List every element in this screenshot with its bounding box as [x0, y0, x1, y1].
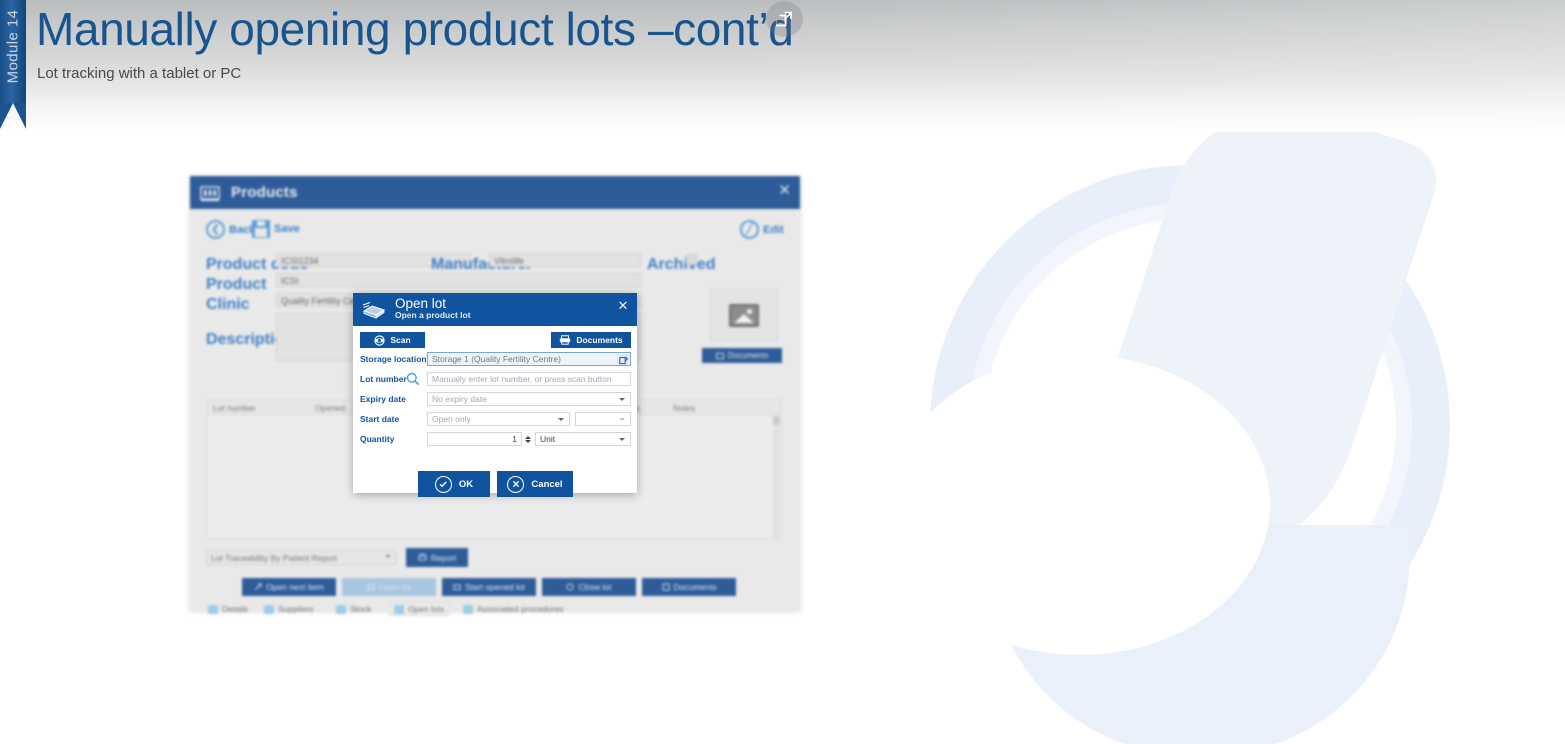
cancel-button[interactable]: Cancel [497, 471, 573, 497]
quantity-label: Quantity [360, 432, 394, 446]
edit-button[interactable]: ╱ Edit [740, 220, 784, 239]
dialog-documents-button-label: Documents [576, 335, 622, 345]
associated-procedures-icon [463, 605, 473, 614]
quantity-stepper[interactable] [523, 432, 532, 446]
th-lot-number[interactable]: Lot number [213, 403, 256, 413]
open-next-item-button[interactable]: Open next item [242, 578, 336, 596]
ok-button-label: OK [459, 479, 473, 490]
open-lots-icon [394, 605, 404, 614]
tab-stock-label: Stock [350, 604, 371, 614]
product-field[interactable]: ICSI [276, 273, 641, 287]
tab-details[interactable]: Details [208, 604, 248, 614]
unit-field[interactable]: Unit [535, 432, 631, 446]
documents-side-button-label: Documents [728, 351, 768, 360]
save-icon [252, 220, 270, 238]
edit-button-label: Edit [763, 224, 784, 236]
report-select-value: Lot Traceability By Patient Report [211, 553, 337, 563]
archived-label: Archived [647, 256, 715, 274]
manufacturer-field[interactable]: Vitrolife [489, 253, 641, 267]
tab-associated-procedures-label: Associated procedures [477, 604, 563, 614]
report-select[interactable]: Lot Traceability By Patient Report [206, 550, 396, 565]
products-titlebar: Products ✕ [190, 176, 800, 209]
chevron-down-icon [385, 555, 391, 558]
tab-suppliers[interactable]: Suppliers [264, 604, 313, 614]
cancel-button-label: Cancel [531, 479, 562, 490]
product-label: Product [206, 276, 266, 294]
open-lot-dialog-title: Open lot [395, 297, 471, 310]
start-opened-lot-label: Start opened lot [465, 582, 525, 592]
chevron-left-icon: ❮ [206, 220, 225, 239]
image-placeholder-icon[interactable] [710, 289, 778, 341]
expiry-date-value: No expiry date [432, 394, 487, 404]
products-icon [199, 183, 221, 203]
open-in-new-icon[interactable] [766, 1, 803, 37]
start-date-value: Open only [432, 414, 471, 424]
chevron-down-icon[interactable] [619, 438, 625, 441]
open-next-item-label: Open next item [266, 582, 324, 592]
expiry-date-field[interactable]: No expiry date [427, 392, 631, 406]
documents-side-button[interactable]: Documents [702, 348, 782, 363]
search-icon[interactable] [406, 372, 420, 386]
documents-button[interactable]: Documents [642, 578, 736, 596]
close-lot-button[interactable]: Close lot [542, 578, 636, 596]
th-opened[interactable]: Opened [315, 403, 345, 413]
products-toolbar: ❮ Back Save ╱ Edit [190, 209, 800, 251]
close-x-icon [507, 476, 524, 493]
back-button[interactable]: ❮ Back [206, 220, 255, 239]
table-scrollbar[interactable] [773, 416, 780, 538]
unit-value: Unit [540, 434, 555, 444]
tab-open-lots[interactable]: Open lots [389, 602, 449, 616]
chevron-down-icon[interactable] [558, 418, 564, 421]
scan-icon [374, 335, 385, 346]
open-lot-dialog-body: Scan Documents Storage location Storage … [353, 326, 637, 493]
suppliers-icon [264, 605, 274, 614]
close-icon[interactable]: ✕ [778, 183, 791, 198]
open-lot-box-icon [361, 299, 387, 321]
tab-associated-procedures[interactable]: Associated procedures [463, 604, 563, 614]
details-icon [208, 605, 218, 614]
chevron-down-icon[interactable] [619, 418, 625, 421]
start-date-label: Start date [360, 412, 399, 426]
check-icon [435, 476, 452, 493]
dialog-documents-button[interactable]: Documents [551, 332, 631, 348]
background-watermark-logo [930, 105, 1490, 665]
open-lot-dialog-subtitle: Open a product lot [395, 310, 471, 321]
quantity-input[interactable]: 1 [427, 432, 522, 446]
tab-suppliers-label: Suppliers [278, 604, 313, 614]
lot-number-label: Lot number [360, 372, 407, 386]
save-button-label: Save [274, 223, 300, 235]
documents-icon [559, 335, 571, 345]
start-date-field[interactable]: Open only [427, 412, 570, 426]
open-lot-dialog: Open lot Open a product lot ✕ Scan [353, 293, 637, 493]
chevron-down-icon[interactable] [619, 398, 625, 401]
storage-location-picker-icon[interactable] [617, 354, 629, 366]
storage-location-value: Storage 1 (Quality Fertility Centre) [432, 354, 561, 364]
scan-button-label: Scan [390, 335, 410, 345]
archived-checkbox[interactable] [686, 254, 697, 265]
tab-details-label: Details [222, 604, 248, 614]
expiry-date-label: Expiry date [360, 392, 406, 406]
page-title: Manually opening product lots –cont’d [36, 2, 793, 56]
products-window-title: Products [231, 184, 298, 201]
documents-button-label: Documents [674, 582, 717, 592]
close-icon[interactable]: ✕ [616, 298, 630, 312]
open-lot-button[interactable]: Open lot [342, 578, 436, 596]
stock-icon [336, 605, 346, 614]
lot-number-input[interactable]: Manually enter lot number, or press scan… [427, 372, 631, 386]
save-button[interactable]: Save [252, 220, 300, 238]
slide-canvas: Module 14 Manually opening product lots … [0, 0, 1565, 744]
tab-stock[interactable]: Stock [336, 604, 371, 614]
edit-pencil-icon: ╱ [740, 220, 759, 239]
open-lot-dialog-header: Open lot Open a product lot ✕ [353, 293, 637, 326]
storage-location-field[interactable]: Storage 1 (Quality Fertility Centre) [427, 352, 631, 366]
clinic-label: Clinic [206, 296, 250, 314]
storage-location-label: Storage location [360, 352, 427, 366]
scan-button[interactable]: Scan [360, 332, 425, 348]
page-subtitle: Lot tracking with a tablet or PC [37, 65, 241, 82]
tab-open-lots-label: Open lots [408, 604, 444, 614]
report-button[interactable]: Report [406, 548, 468, 567]
open-lot-label: Open lot [379, 582, 411, 592]
module-tab: Module 14 [0, 0, 26, 132]
report-button-label: Report [431, 553, 457, 563]
close-lot-label: Close lot [578, 582, 611, 592]
ok-button[interactable]: OK [418, 471, 490, 497]
th-notes[interactable]: Notes [673, 403, 695, 413]
start-opened-lot-button[interactable]: Start opened lot [442, 578, 536, 596]
module-tab-label: Module 14 [5, 1, 22, 93]
